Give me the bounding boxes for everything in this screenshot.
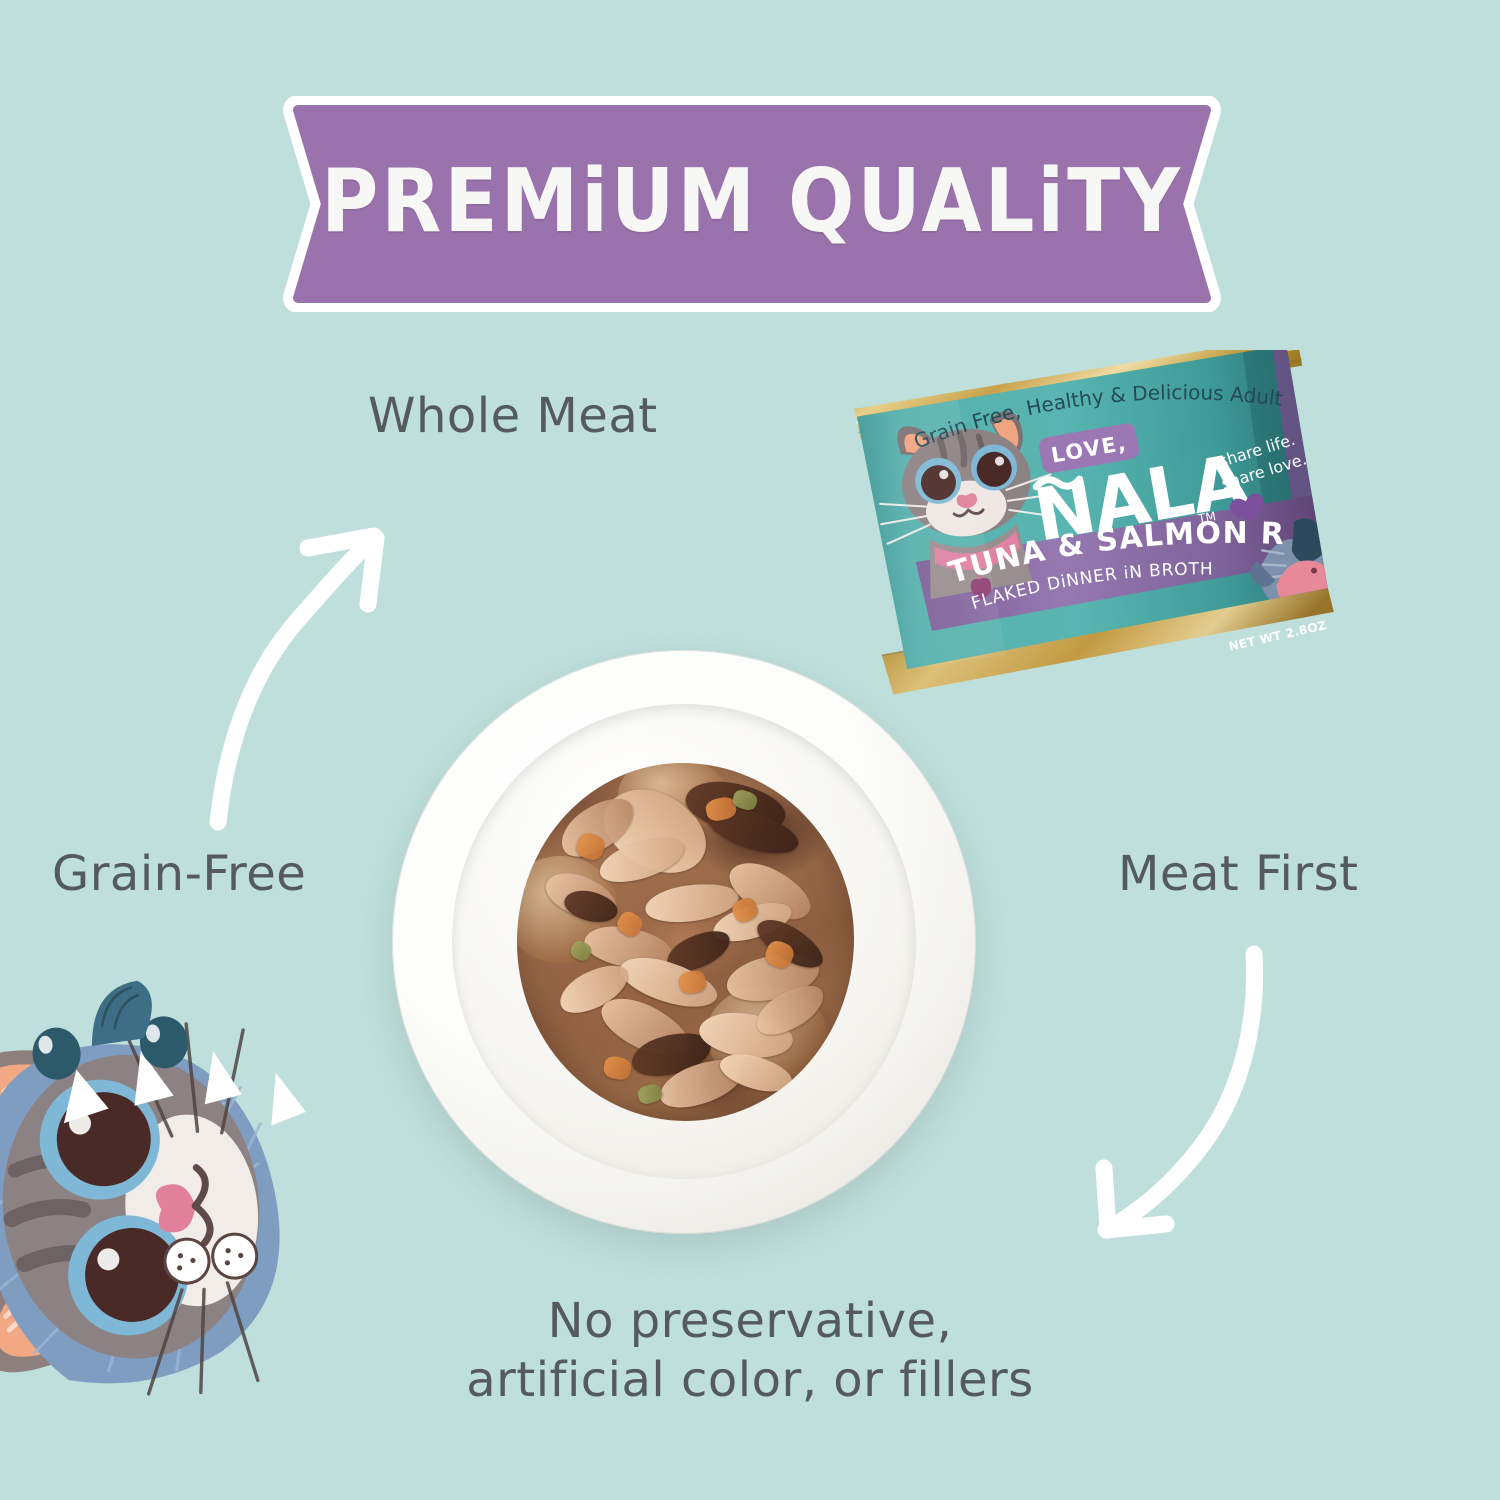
curved-arrow-up-right-icon [196,500,406,840]
curved-arrow-down-left-icon [1044,930,1294,1250]
mascot-cat-graphic [0,961,373,1434]
no-preservative-line-1: No preservative, [548,1293,953,1349]
feature-label-meat-first: Meat First [1118,846,1358,902]
mascot-cat-icon [0,961,373,1434]
premium-quality-banner: PREMiUM QUALiTY [272,96,1232,312]
product-can: LOVE, NALA TM share life. share love. [848,350,1348,750]
bowl-inner-rim [452,704,917,1179]
can-illustration: LOVE, NALA TM share life. share love. [848,350,1348,750]
infographic-canvas: PREMiUM QUALiTY Whole Meat Grain-Free Me… [0,0,1500,1500]
feature-label-whole-meat: Whole Meat [368,388,658,444]
flaked-tuna-salmon-food [517,763,854,1121]
banner-title: PREMiUM QUALiTY [272,83,1232,325]
feature-label-grain-free: Grain-Free [52,846,306,902]
